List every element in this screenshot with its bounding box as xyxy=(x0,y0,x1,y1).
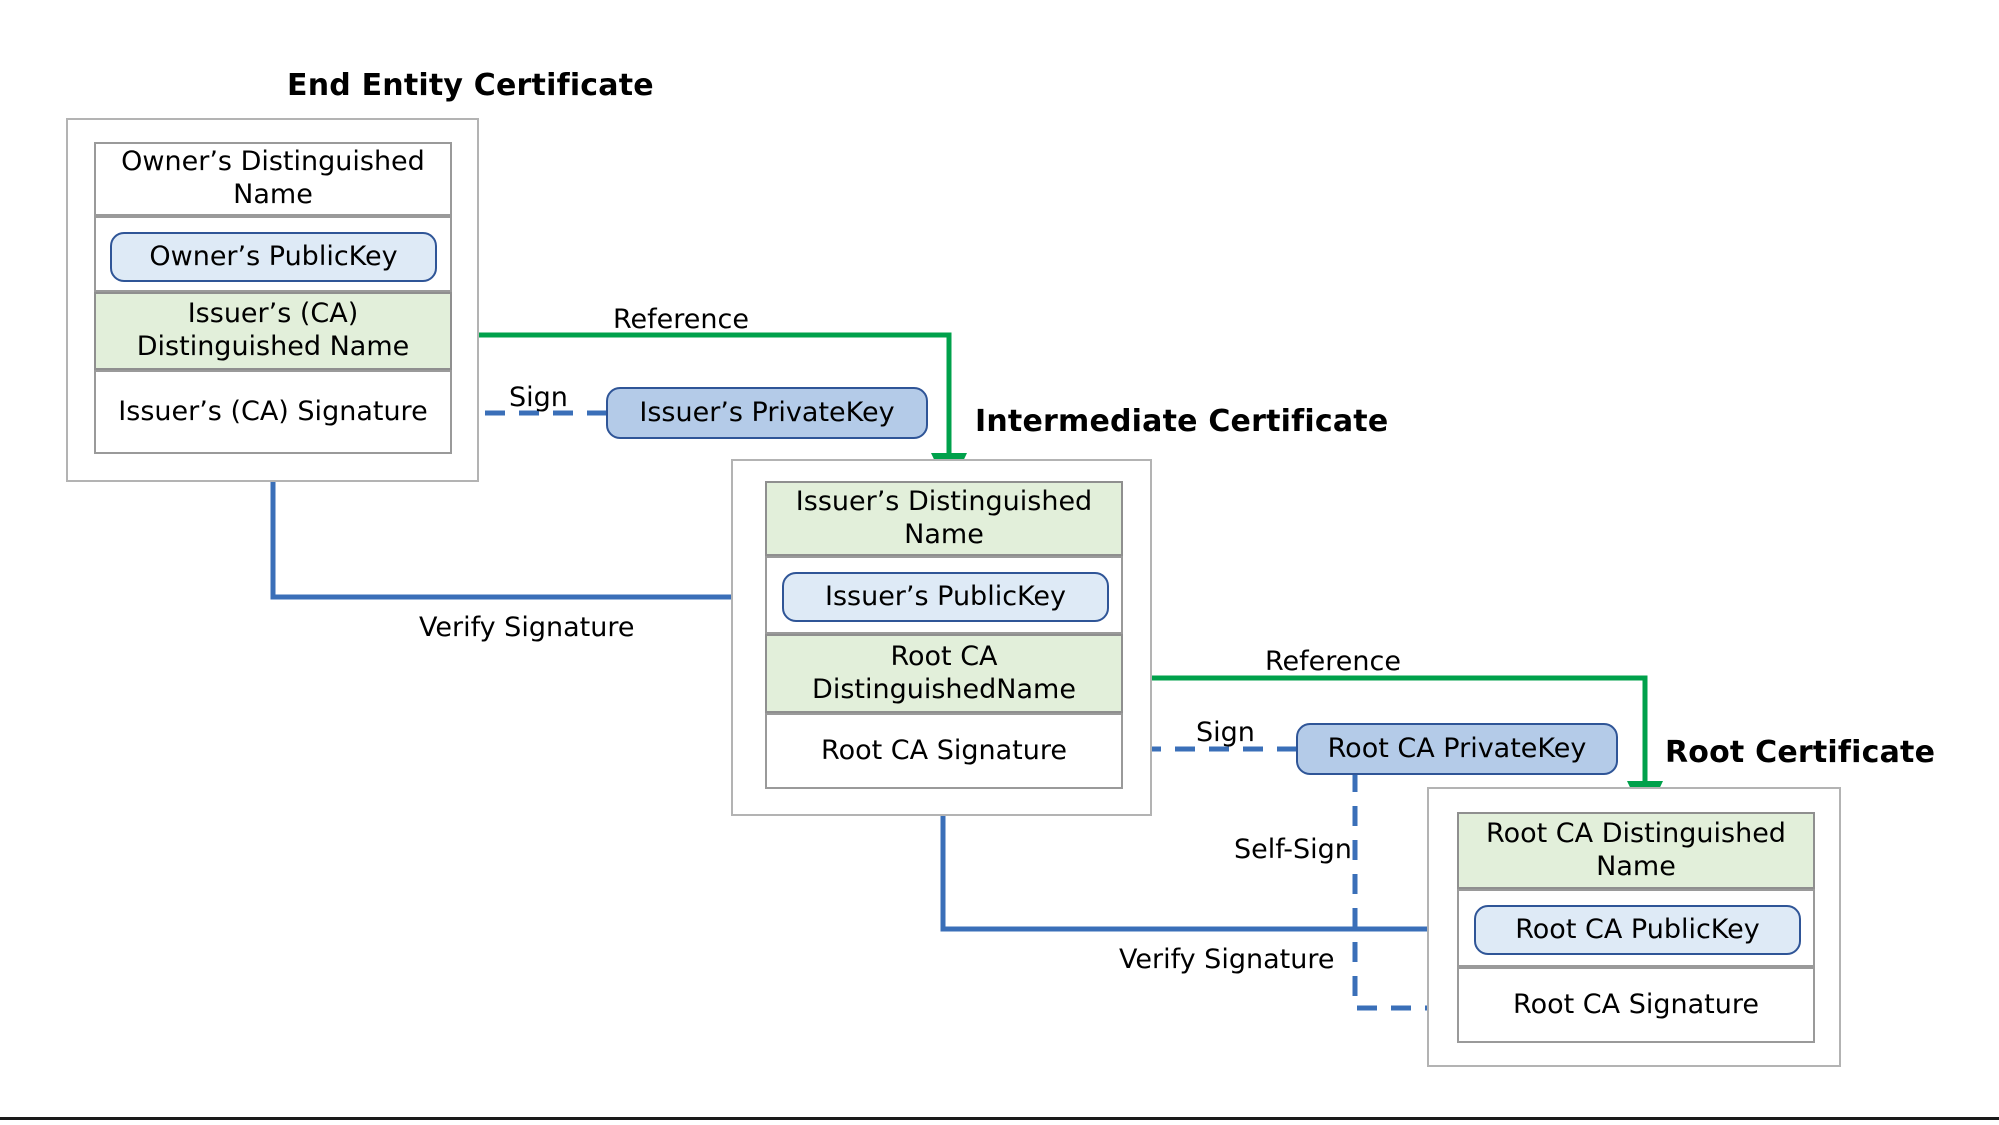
field-issuer-signature: Issuer’s (CA) Signature xyxy=(94,370,452,454)
edge-label-verify-1: Verify Signature xyxy=(419,612,634,643)
field-root-ca-distinguished-name: Root CA Distinguished Name xyxy=(1457,812,1815,889)
edge-label-sign-2: Sign xyxy=(1196,717,1255,748)
field-label: Owner’s Distinguished Name xyxy=(96,146,450,212)
key-issuer-private-key[interactable]: Issuer’s PrivateKey xyxy=(606,387,928,439)
edge-label-reference-2: Reference xyxy=(1265,646,1401,677)
diagram-canvas: End Entity Certificate Owner’s Distingui… xyxy=(0,0,1999,1125)
field-label: Issuer’s (CA) Signature xyxy=(112,396,433,429)
field-owner-distinguished-name: Owner’s Distinguished Name xyxy=(94,142,452,216)
edge-label-self-sign: Self-Sign xyxy=(1234,834,1352,865)
field-root-ca-signature: Root CA Signature xyxy=(1457,967,1815,1043)
field-intermediate-root-ca-distinguished-name: Root CA DistinguishedName xyxy=(765,634,1123,713)
key-issuer-public-key[interactable]: Issuer’s PublicKey xyxy=(782,572,1109,622)
page-bottom-rule xyxy=(0,1117,1999,1120)
key-label: Root CA PrivateKey xyxy=(1328,733,1587,765)
key-label: Issuer’s PrivateKey xyxy=(639,397,894,429)
edge-label-sign-1: Sign xyxy=(509,382,568,413)
field-label: Root CA Signature xyxy=(815,735,1073,768)
edge-label-reference-1: Reference xyxy=(613,304,749,335)
key-label: Owner’s PublicKey xyxy=(149,241,397,273)
key-owner-public-key[interactable]: Owner’s PublicKey xyxy=(110,232,437,282)
field-label: Issuer’s (CA) Distinguished Name xyxy=(96,298,450,364)
key-root-ca-private-key[interactable]: Root CA PrivateKey xyxy=(1296,723,1618,775)
field-label: Root CA Distinguished Name xyxy=(1459,818,1813,884)
cert-title-root: Root Certificate xyxy=(1665,735,1935,770)
field-label: Root CA Signature xyxy=(1507,989,1765,1022)
cert-title-intermediate: Intermediate Certificate xyxy=(975,404,1388,439)
key-root-ca-public-key[interactable]: Root CA PublicKey xyxy=(1474,905,1801,955)
edge-label-verify-2: Verify Signature xyxy=(1119,944,1334,975)
field-intermediate-issuer-distinguished-name: Issuer’s Distinguished Name xyxy=(765,481,1123,556)
key-label: Issuer’s PublicKey xyxy=(825,581,1066,613)
key-label: Root CA PublicKey xyxy=(1515,914,1760,946)
field-label: Issuer’s Distinguished Name xyxy=(767,486,1121,552)
field-label: Root CA DistinguishedName xyxy=(767,641,1121,707)
cert-title-end-entity: End Entity Certificate xyxy=(287,68,654,103)
field-intermediate-root-ca-signature: Root CA Signature xyxy=(765,713,1123,789)
field-issuer-distinguished-name: Issuer’s (CA) Distinguished Name xyxy=(94,292,452,370)
